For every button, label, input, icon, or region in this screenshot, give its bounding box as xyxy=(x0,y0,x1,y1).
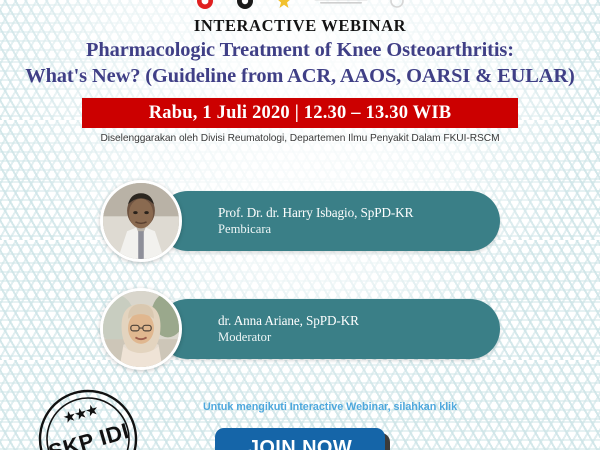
speaker-photo-anna-ariane xyxy=(100,288,182,370)
logo-grey-wordmark-icon xyxy=(314,0,368,6)
logo-black-circle-icon xyxy=(236,0,254,10)
join-now-label: JOIN NOW xyxy=(248,437,352,450)
stamp-stars-top: ★★★ xyxy=(62,401,100,425)
speaker-role: Moderator xyxy=(218,329,500,345)
join-now-button[interactable]: JOIN NOW xyxy=(215,428,385,450)
speaker-name: Prof. Dr. dr. Harry Isbagio, SpPD-KR xyxy=(218,205,500,221)
eyebrow-heading: INTERACTIVE WEBINAR xyxy=(0,16,600,36)
page-title: Pharmacologic Treatment of Knee Osteoart… xyxy=(8,38,592,89)
page-title-line-2: What's New? (Guideline from ACR, AAOS, O… xyxy=(8,64,592,90)
stamp-label: SKP IDI xyxy=(46,418,132,450)
organizer-logo-strip xyxy=(0,0,600,8)
date-time-banner: Rabu, 1 Juli 2020 | 12.30 – 13.30 WIB xyxy=(82,98,518,128)
logo-faint-mark-icon xyxy=(390,0,404,8)
speaker-pill: Prof. Dr. dr. Harry Isbagio, SpPD-KR Pem… xyxy=(158,191,500,251)
speaker-photo-harry-isbagio xyxy=(100,180,182,262)
date-time-text: Rabu, 1 Juli 2020 | 12.30 – 13.30 WIB xyxy=(149,103,452,124)
logo-yellow-mark-icon xyxy=(276,0,292,9)
speaker-row: Prof. Dr. dr. Harry Isbagio, SpPD-KR Pem… xyxy=(100,180,500,262)
cta-prompt-text: Untuk mengikuti Interactive Webinar, sil… xyxy=(140,401,520,413)
speaker-role: Pembicara xyxy=(218,221,500,237)
speaker-row: dr. Anna Ariane, SpPD-KR Moderator xyxy=(100,288,500,370)
organizer-text: Diselenggarakan oleh Divisi Reumatologi,… xyxy=(0,133,600,144)
speaker-name: dr. Anna Ariane, SpPD-KR xyxy=(218,313,500,329)
avatar xyxy=(103,183,179,259)
speaker-pill: dr. Anna Ariane, SpPD-KR Moderator xyxy=(158,299,500,359)
avatar xyxy=(103,291,179,367)
webinar-poster: INTERACTIVE WEBINAR Pharmacologic Treatm… xyxy=(0,0,600,450)
page-title-line-1: Pharmacologic Treatment of Knee Osteoart… xyxy=(8,38,592,64)
logo-red-circle-icon xyxy=(196,0,214,10)
